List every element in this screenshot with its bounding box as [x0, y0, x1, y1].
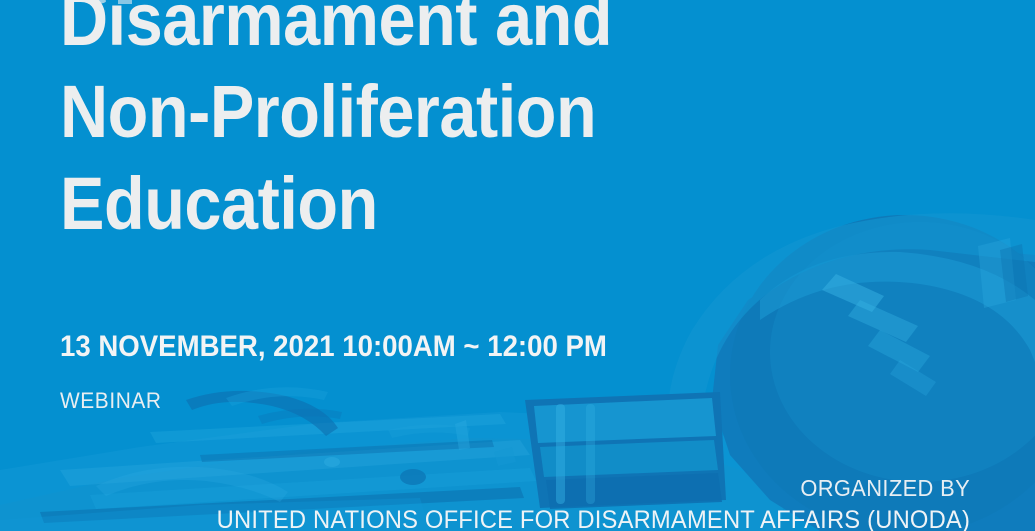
webinar-banner: Disarmament and Non-Proliferation Educat… [0, 0, 1035, 531]
headline-line-1: Disarmament and [60, 0, 612, 66]
banner-headline: Disarmament and Non-Proliferation Educat… [60, 0, 673, 250]
headline-line-2: Non-Proliferation [60, 66, 612, 158]
headline-line-3: Education [60, 158, 612, 250]
event-datetime: 13 NOVEMBER, 2021 10:00AM ~ 12:00 PM [60, 330, 607, 364]
organizer-block: ORGANIZED BY UNITED NATIONS OFFICE FOR D… [177, 473, 970, 531]
organizer-name: UNITED NATIONS OFFICE FOR DISARMAMENT AF… [217, 504, 970, 531]
organized-by-label: ORGANIZED BY [217, 473, 970, 504]
event-format-label: WEBINAR [60, 388, 162, 414]
